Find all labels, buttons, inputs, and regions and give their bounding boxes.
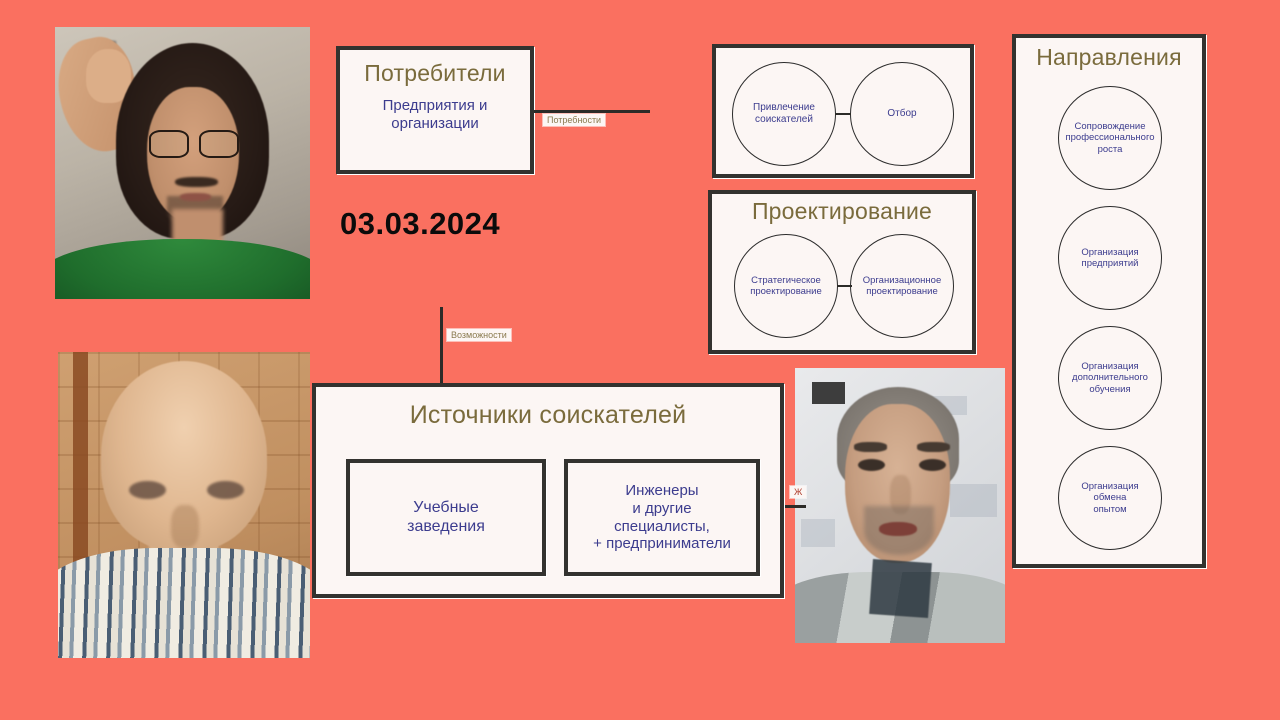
panel-sources[interactable]: Источники соискателей Учебные заведения … [312,383,784,598]
striped-shirt [58,548,310,658]
collar [869,559,931,618]
webcam-tile-bottom-left[interactable] [58,352,310,658]
panel-design[interactable]: Проектирование Стратегическое проектиров… [708,190,976,354]
circle-strategic-design[interactable]: Стратегическое проектирование [734,234,838,338]
nose [171,505,199,548]
panel-directions-title: Направления [1016,44,1202,71]
circle-selection-label: Отбор [887,108,916,120]
webcam-tile-top-left[interactable] [55,27,310,299]
wall-panel-4 [801,519,835,547]
panel-directions[interactable]: Направления Сопровождение профессиональн… [1012,34,1206,568]
box-educational-institutions-label: Учебные заведения [407,499,485,537]
connector-capabilities-label: Возможности [447,329,511,341]
panel-sources-title: Источники соискателей [316,401,780,430]
circle-experience-exchange-organization-label: Организация обмена опытом [1081,481,1138,515]
circle-organizational-design-label: Организационное проектирование [863,275,942,297]
circle-enterprise-organization[interactable]: Организация предприятий [1058,206,1162,310]
design-circle-link [837,285,852,287]
slide-stage: 03.03.2024 Потребители Предприятия и орг… [0,0,1280,720]
right-eyebrow [917,442,951,451]
circle-additional-training-organization[interactable]: Организация дополнительного обучения [1058,326,1162,430]
left-eyebrow [854,442,888,451]
connector-right-label: Ж [790,486,806,498]
webcam-tile-bottom-right[interactable] [795,368,1005,643]
circle-professional-growth-support[interactable]: Сопровождение профессионального роста [1058,86,1162,190]
panel-consumers-body: Предприятия и организации [340,97,530,132]
connector-needs-label: Потребности [543,114,605,126]
wall-post [73,352,88,566]
panel-consumers-title: Потребители [340,60,530,87]
mouth [879,522,917,536]
panel-design-title: Проектирование [712,198,972,225]
moustache [175,177,218,188]
circle-selection[interactable]: Отбор [850,62,954,166]
left-eye [858,459,885,471]
right-eye [919,459,946,471]
left-eye [129,481,167,499]
date-stamp: 03.03.2024 [340,206,500,242]
circle-professional-growth-support-label: Сопровождение профессионального роста [1066,121,1155,155]
recruiting-circle-link [835,113,851,115]
circle-organizational-design[interactable]: Организационное проектирование [850,234,954,338]
right-eye [207,481,245,499]
panel-recruiting[interactable]: Привлечение соискателей Отбор [712,44,974,178]
wall-panel-1 [812,382,846,404]
circle-attract-applicants[interactable]: Привлечение соискателей [732,62,836,166]
wall-panel-3 [950,484,996,517]
circle-attract-applicants-label: Привлечение соискателей [753,102,815,126]
box-engineers-specialists[interactable]: Инженеры и другие специалисты, + предпри… [564,459,760,576]
box-educational-institutions[interactable]: Учебные заведения [346,459,546,576]
mouth [180,193,211,201]
box-engineers-specialists-label: Инженеры и другие специалисты, + предпри… [593,482,731,553]
connector-needs-line [534,110,650,113]
green-shirt [55,239,310,299]
panel-consumers[interactable]: Потребители Предприятия и организации [336,46,534,174]
glasses-icon [149,130,238,157]
circle-enterprise-organization-label: Организация предприятий [1081,247,1138,269]
circle-strategic-design-label: Стратегическое проектирование [750,275,822,297]
circle-additional-training-organization-label: Организация дополнительного обучения [1072,361,1148,395]
circle-experience-exchange-organization[interactable]: Организация обмена опытом [1058,446,1162,550]
